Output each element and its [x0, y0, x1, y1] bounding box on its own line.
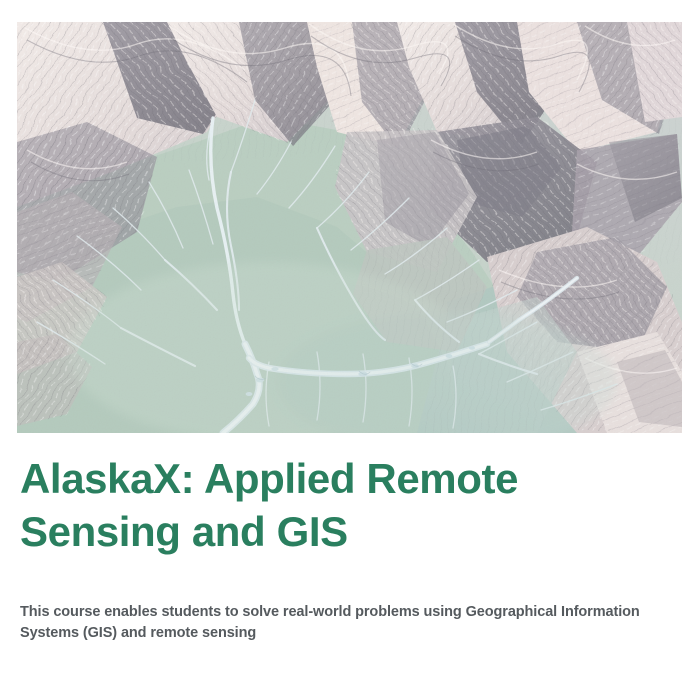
texture-grain	[17, 22, 682, 433]
course-description: This course enables students to solve re…	[20, 602, 692, 644]
course-card: AlaskaX: Applied Remote Sensing and GIS …	[0, 0, 700, 700]
terrain-relief-illustration	[17, 22, 682, 433]
course-text-block: AlaskaX: Applied Remote Sensing and GIS …	[20, 452, 680, 558]
course-title: AlaskaX: Applied Remote Sensing and GIS	[20, 452, 620, 558]
course-hero-image	[17, 22, 682, 433]
